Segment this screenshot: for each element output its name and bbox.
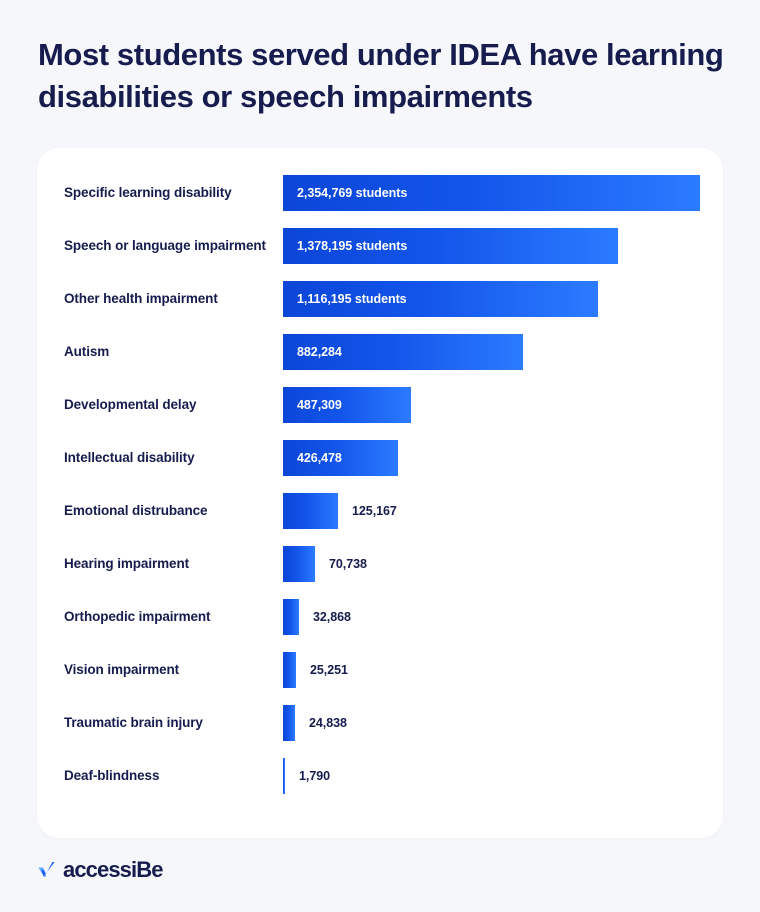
bar-row: Intellectual disability426,478: [37, 431, 723, 484]
bar-track: 1,790: [283, 758, 723, 794]
bar-value-label: 32,868: [313, 610, 351, 624]
bar-track: 1,378,195 students: [283, 228, 723, 264]
bar[interactable]: [283, 758, 285, 794]
bar-value-label: 426,478: [283, 451, 342, 465]
bar-row: Vision impairment25,251: [37, 643, 723, 696]
bar[interactable]: [283, 599, 299, 635]
bar-row: Speech or language impairment1,378,195 s…: [37, 219, 723, 272]
bar[interactable]: 1,116,195 students: [283, 281, 598, 317]
bar-category-label: Hearing impairment: [64, 555, 279, 573]
bar-category-label: Emotional distrubance: [64, 502, 279, 520]
bar-row: Deaf-blindness1,790: [37, 749, 723, 802]
bar-category-label: Orthopedic impairment: [64, 608, 279, 626]
bar-row: Traumatic brain injury24,838: [37, 696, 723, 749]
bar-track: 25,251: [283, 652, 723, 688]
chart-card: Specific learning disability2,354,769 st…: [37, 148, 723, 838]
bar-category-label: Intellectual disability: [64, 449, 279, 467]
bar[interactable]: 1,378,195 students: [283, 228, 618, 264]
bar-value-label: 25,251: [310, 663, 348, 677]
bar-row: Emotional distrubance125,167: [37, 484, 723, 537]
bar-track: 70,738: [283, 546, 723, 582]
bar[interactable]: [283, 493, 338, 529]
bar-value-label: 1,116,195 students: [283, 292, 407, 306]
bar-category-label: Vision impairment: [64, 661, 279, 679]
bar-value-label: 24,838: [309, 716, 347, 730]
bar-value-label: 487,309: [283, 398, 342, 412]
bar-row: Hearing impairment70,738: [37, 537, 723, 590]
bar-category-label: Deaf-blindness: [64, 767, 279, 785]
bar-value-label: 125,167: [352, 504, 397, 518]
bar-value-label: 2,354,769 students: [283, 186, 407, 200]
brand-logo: accessiBe: [37, 856, 163, 884]
bar-track: 32,868: [283, 599, 723, 635]
bar-row: Orthopedic impairment32,868: [37, 590, 723, 643]
bar-category-label: Speech or language impairment: [64, 237, 279, 255]
bar[interactable]: 2,354,769 students: [283, 175, 700, 211]
bar-track: 882,284: [283, 334, 723, 370]
bar-track: 24,838: [283, 705, 723, 741]
bar[interactable]: [283, 546, 315, 582]
accessibe-check-icon: [37, 858, 61, 882]
bar-category-label: Traumatic brain injury: [64, 714, 279, 732]
bar-row: Specific learning disability2,354,769 st…: [37, 166, 723, 219]
bar[interactable]: 882,284: [283, 334, 523, 370]
bar-value-label: 70,738: [329, 557, 367, 571]
bar-value-label: 882,284: [283, 345, 342, 359]
bar-row: Autism882,284: [37, 325, 723, 378]
bar-category-label: Developmental delay: [64, 396, 279, 414]
bar-chart: Specific learning disability2,354,769 st…: [37, 166, 723, 802]
bar-category-label: Other health impairment: [64, 290, 279, 308]
page-title: Most students served under IDEA have lea…: [38, 34, 728, 118]
bar[interactable]: [283, 705, 295, 741]
brand-name: accessiBe: [63, 857, 163, 883]
bar-track: 1,116,195 students: [283, 281, 723, 317]
bar-category-label: Autism: [64, 343, 279, 361]
bar-track: 2,354,769 students: [283, 175, 723, 211]
bar-category-label: Specific learning disability: [64, 184, 279, 202]
infographic-page: Most students served under IDEA have lea…: [0, 0, 760, 912]
bar-row: Other health impairment1,116,195 student…: [37, 272, 723, 325]
bar[interactable]: 487,309: [283, 387, 411, 423]
bar-value-label: 1,790: [299, 769, 330, 783]
bar-track: 426,478: [283, 440, 723, 476]
bar-track: 487,309: [283, 387, 723, 423]
bar-row: Developmental delay487,309: [37, 378, 723, 431]
bar[interactable]: [283, 652, 296, 688]
bar[interactable]: 426,478: [283, 440, 398, 476]
bar-value-label: 1,378,195 students: [283, 239, 407, 253]
bar-track: 125,167: [283, 493, 723, 529]
